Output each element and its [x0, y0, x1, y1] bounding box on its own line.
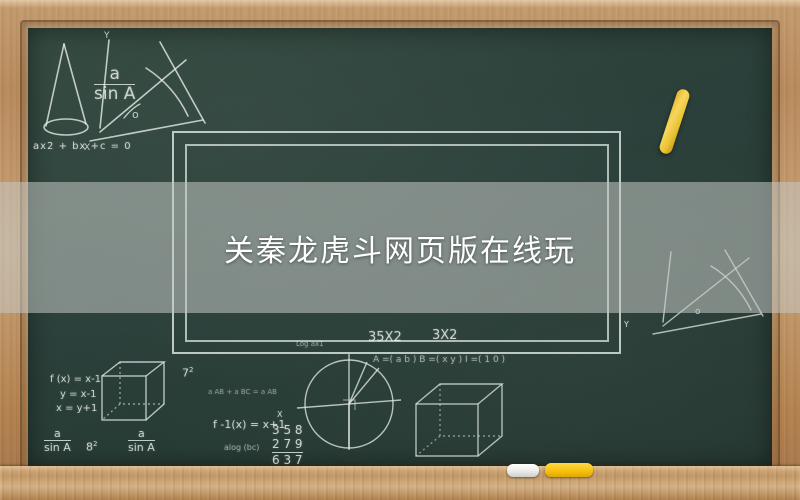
function-definition-block: f (x) = x-1 y = x-1 x = y+1 [50, 373, 101, 417]
log-expression: alog (bc) [224, 443, 259, 452]
vertical-addition: 3 5 8 2 7 9 6 3 7 [272, 424, 303, 466]
exponent-seven: 72 [182, 366, 193, 380]
axis-x-label-right: X [277, 410, 282, 419]
yellow-chalk-stick[interactable] [545, 463, 593, 477]
label-3x2: 3X2 [432, 328, 457, 343]
page-title: 关秦龙虎斗网页版在线玩 [0, 182, 800, 313]
log-axis-label: Log ax1 [296, 340, 324, 348]
chalkboard-ledge [0, 466, 800, 500]
chalkboard-banner: Y X o a sin A ax2 + bx +c = 0 35X2 3X2 A… [0, 0, 800, 500]
addition-row-1: 3 5 8 [272, 424, 303, 438]
formula-a-over-sina-3: a sin A [128, 428, 155, 453]
formula-quadratic: ax2 + bx +c = 0 [33, 141, 132, 152]
formula-a-over-sina: a sin A [94, 66, 135, 104]
addition-total: 6 3 7 [272, 452, 303, 466]
axis-y-label-right: Y [624, 320, 629, 329]
formula-a-over-sina-2: a sin A [44, 428, 71, 453]
white-chalk-stick[interactable] [507, 464, 539, 477]
exponent-eight: 82 [86, 440, 97, 454]
addition-row-2: 2 7 9 [272, 438, 303, 452]
function-line-1: f (x) = x-1 [50, 373, 101, 388]
matrix-expression: A =( a b ) B =( x y ) I =( 1 0 ) [373, 355, 505, 365]
function-line-3: x = y+1 [50, 402, 101, 417]
label-35x2: 35X2 [368, 330, 402, 345]
small-vector-equation: a AB + a BC = a AB [208, 388, 277, 396]
frame-bevel-top [0, 0, 800, 8]
function-line-2: y = x-1 [50, 388, 101, 403]
